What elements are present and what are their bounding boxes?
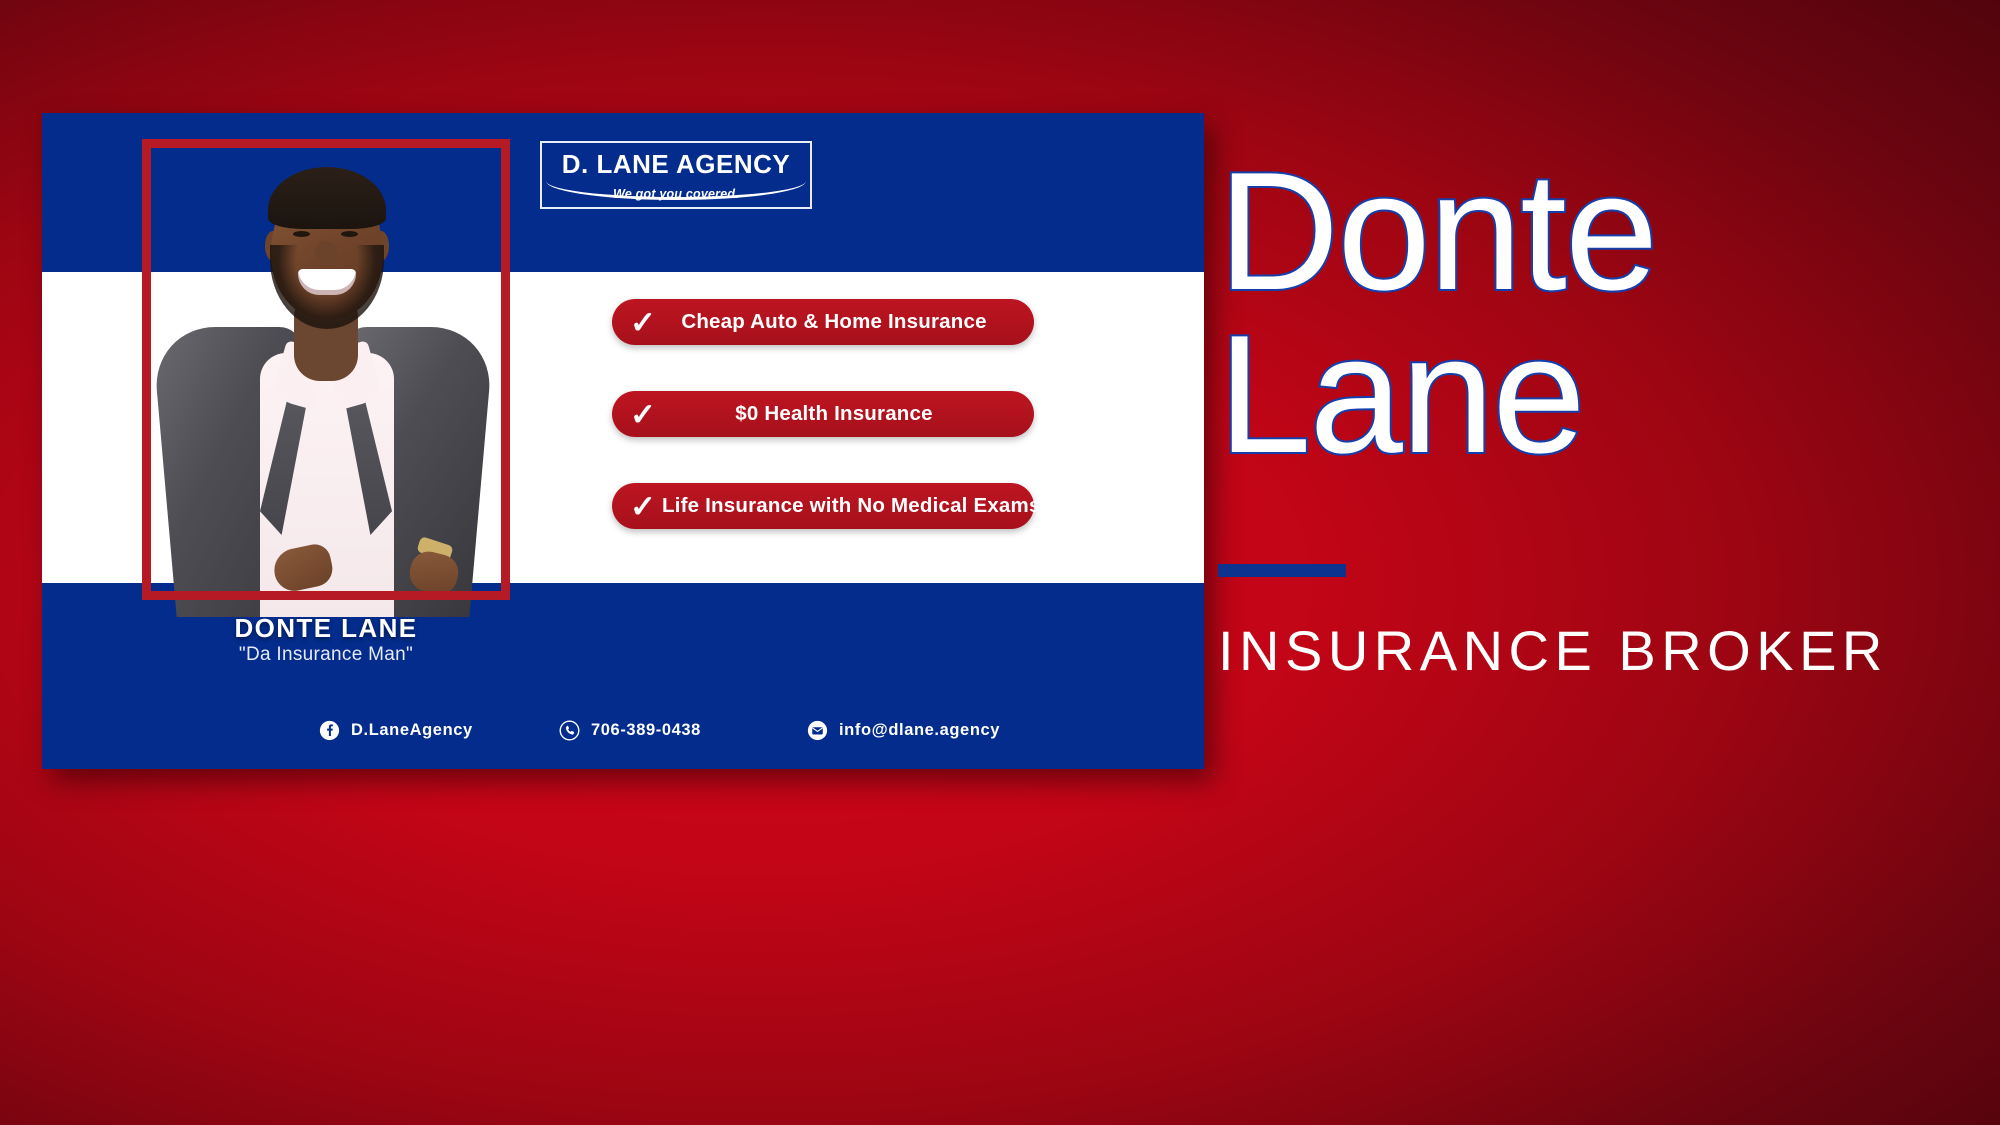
card-name: DONTE LANE <box>142 613 510 644</box>
contact-label: info@dlane.agency <box>839 721 1000 740</box>
check-icon: ✓ <box>630 399 656 430</box>
hero-role: INSURANCE BROKER <box>1218 623 1958 679</box>
logo-swoosh-icon <box>546 181 806 200</box>
hero-name-line2: Lane <box>1218 313 1958 476</box>
benefit-pill-1[interactable]: ✓ Cheap Auto & Home Insurance <box>612 299 1034 345</box>
logo-title: D. LANE AGENCY <box>562 151 791 177</box>
contact-strip: D.LaneAgency 706-389-0438 info@dlane.age… <box>42 708 1204 752</box>
benefit-label: $0 Health Insurance <box>662 402 1034 426</box>
benefit-label: Life Insurance with No Medical Exams <box>662 494 1069 518</box>
contact-phone[interactable]: 706-389-0438 <box>559 720 701 741</box>
hero-name-line1: Donte <box>1218 150 1958 313</box>
check-icon: ✓ <box>630 491 656 522</box>
hero-block: Donte Lane INSURANCE BROKER <box>1218 150 1958 679</box>
portrait-frame <box>142 139 510 600</box>
contact-label: 706-389-0438 <box>591 721 701 740</box>
benefit-label: Cheap Auto & Home Insurance <box>662 310 1034 334</box>
check-icon: ✓ <box>630 307 656 338</box>
card-nickname: "Da Insurance Man" <box>142 644 510 666</box>
facebook-icon <box>319 720 340 741</box>
contact-facebook[interactable]: D.LaneAgency <box>319 720 473 741</box>
phone-icon <box>559 720 580 741</box>
poster-canvas: D. LANE AGENCY We got you covered. <box>0 0 2000 1125</box>
email-icon <box>807 720 828 741</box>
hero-divider <box>1218 564 1346 577</box>
business-card: D. LANE AGENCY We got you covered. <box>42 113 1204 769</box>
benefit-pill-3[interactable]: ✓ Life Insurance with No Medical Exams <box>612 483 1034 529</box>
contact-label: D.LaneAgency <box>351 721 473 740</box>
benefit-pill-2[interactable]: ✓ $0 Health Insurance <box>612 391 1034 437</box>
contact-email[interactable]: info@dlane.agency <box>807 720 1000 741</box>
agency-logo: D. LANE AGENCY We got you covered. <box>540 141 812 209</box>
